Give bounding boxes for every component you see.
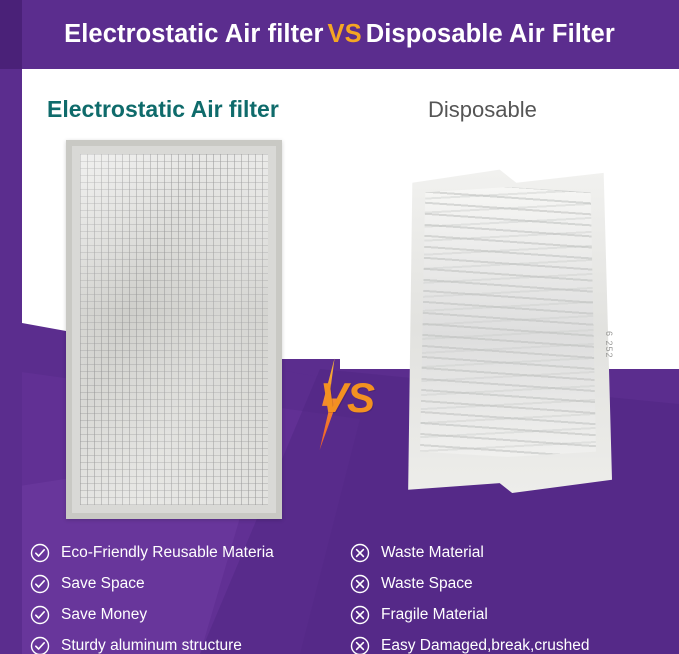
left-column-heading: Electrostatic Air filter <box>47 96 279 123</box>
check-circle-icon <box>30 636 50 654</box>
vs-badge: VS <box>302 354 392 454</box>
content-area: Electrostatic Air filter Disposable 6 25… <box>0 69 679 654</box>
list-item-label: Waste Space <box>381 576 473 592</box>
check-circle-icon <box>30 543 50 563</box>
list-item-label: Save Space <box>61 576 145 592</box>
list-item-label: Sturdy aluminum structure <box>61 638 242 654</box>
electrostatic-filter-image <box>66 140 282 519</box>
check-circle-icon <box>30 574 50 594</box>
disposable-filter-side-label: 6 252 <box>554 331 614 371</box>
filter-mesh-texture <box>80 154 268 505</box>
list-item: Easy Damaged,break,crushed <box>350 630 670 654</box>
list-item-label: Waste Material <box>381 545 484 561</box>
list-item: Waste Material <box>350 537 670 568</box>
list-item: Fragile Material <box>350 599 670 630</box>
page-title-part2: Disposable Air Filter <box>366 20 615 49</box>
cross-circle-icon <box>350 605 370 625</box>
cross-circle-icon <box>350 636 370 654</box>
list-item-label: Save Money <box>61 607 147 623</box>
cross-circle-icon <box>350 543 370 563</box>
list-item-label: Eco-Friendly Reusable Materia <box>61 545 274 561</box>
list-item: Save Space <box>30 568 350 599</box>
list-item: Sturdy aluminum structure <box>30 630 350 654</box>
list-item: Eco-Friendly Reusable Materia <box>30 537 350 568</box>
right-column-heading: Disposable <box>428 97 537 123</box>
right-feature-list: Waste Material Waste Space Fragile Mater… <box>350 537 670 654</box>
list-item-label: Fragile Material <box>381 607 488 623</box>
page-title: Electrostatic Air filter VS Disposable A… <box>0 0 679 69</box>
disposable-filter-image: 6 252 <box>404 163 612 493</box>
page-title-part1: Electrostatic Air filter <box>64 20 323 49</box>
check-circle-icon <box>30 605 50 625</box>
header-banner: Electrostatic Air filter VS Disposable A… <box>0 0 679 69</box>
cross-circle-icon <box>350 574 370 594</box>
list-item: Save Money <box>30 599 350 630</box>
left-feature-list: Eco-Friendly Reusable Materia Save Space… <box>30 537 350 654</box>
comparison-infographic: Electrostatic Air filter VS Disposable A… <box>0 0 679 654</box>
page-title-vs: VS <box>328 20 362 49</box>
filter-mesh-sheen <box>80 154 268 505</box>
disposable-filter-media <box>420 187 596 457</box>
left-purple-band <box>0 69 22 654</box>
vs-badge-label: VS <box>320 374 374 422</box>
list-item-label: Easy Damaged,break,crushed <box>381 638 590 654</box>
list-item: Waste Space <box>350 568 670 599</box>
